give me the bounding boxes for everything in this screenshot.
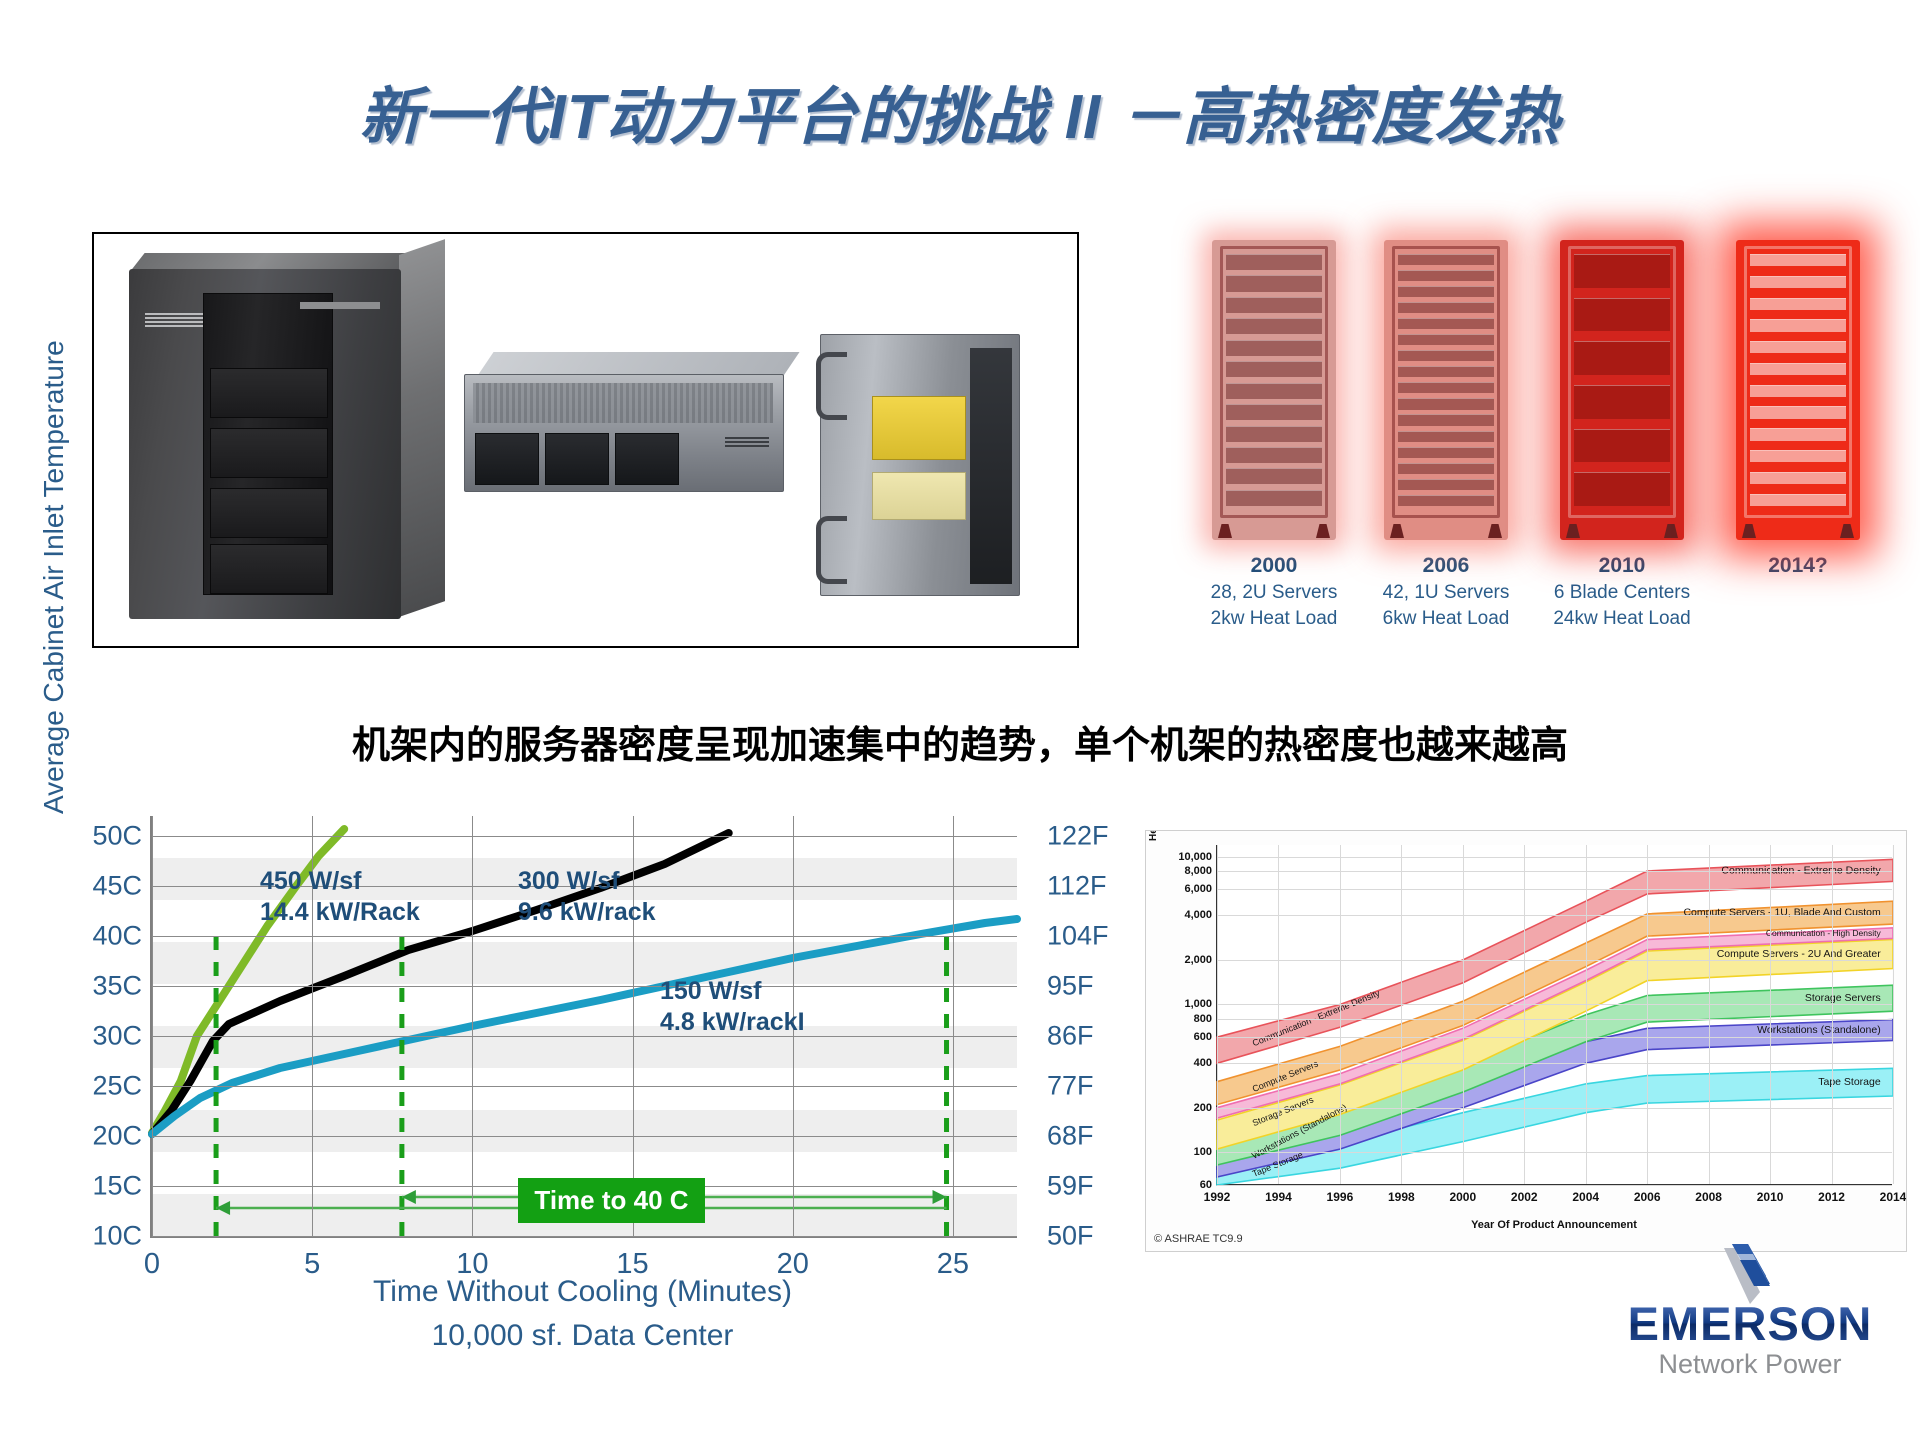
rack-foot bbox=[1218, 524, 1232, 538]
rack-2u-face bbox=[464, 374, 784, 492]
ashrae-band-label: Workstations (Standalone) bbox=[1757, 1024, 1881, 1036]
temp-gridline-h bbox=[152, 936, 1017, 937]
temp-chart-y-axis-title: Average Cabinet Air Inlet Temperature bbox=[38, 384, 70, 814]
ashrae-band-label: Storage Servers bbox=[1805, 992, 1881, 1004]
rack-2u-vent bbox=[473, 383, 773, 423]
ashrae-x-tick: 2010 bbox=[1757, 1190, 1784, 1204]
temp-chart-x-axis-line2: 10,000 sf. Data Center bbox=[150, 1314, 1015, 1358]
rack-slot bbox=[1226, 275, 1322, 291]
server-photo-panel bbox=[92, 232, 1079, 648]
ashrae-plot-area: Communication - Extreme DensityCompute S… bbox=[1216, 845, 1892, 1185]
ibm-logo-mark bbox=[145, 313, 203, 327]
temp-series-annotation-line2: 14.4 kW/Rack bbox=[260, 897, 420, 928]
rack-slot bbox=[1398, 286, 1494, 297]
rack-slot bbox=[1398, 414, 1494, 425]
temp-y-tick-celsius: 15C bbox=[92, 1171, 142, 1202]
ashrae-gridline-h bbox=[1217, 915, 1892, 916]
time-to-40c-badge: Time to 40 C bbox=[518, 1178, 704, 1223]
temp-y-tick-celsius: 40C bbox=[92, 921, 142, 952]
rack-slot bbox=[1750, 406, 1846, 418]
rack-slot bbox=[1226, 383, 1322, 399]
ashrae-heat-load-chart: Heat Load Per Product Footprint (watts /… bbox=[1145, 830, 1907, 1252]
rack-slot bbox=[1226, 468, 1322, 484]
ashrae-gridline-v bbox=[1709, 845, 1710, 1184]
ashrae-band-label: Compute Servers - 1U, Blade And Custom bbox=[1683, 907, 1881, 919]
ashrae-band-label: Compute Servers - 2U And Greater bbox=[1717, 948, 1881, 960]
ashrae-gridline-h bbox=[1217, 871, 1892, 872]
ashrae-gridline-v bbox=[1278, 845, 1279, 1184]
rack-slot bbox=[1574, 385, 1670, 419]
ashrae-y-tick: 100 bbox=[1194, 1146, 1212, 1158]
ashrae-x-tick: 1996 bbox=[1327, 1190, 1354, 1204]
ashrae-gridline-v bbox=[1340, 845, 1341, 1184]
ashrae-y-tick: 2,000 bbox=[1184, 954, 1212, 966]
rack-year-label: 2000 bbox=[1200, 554, 1348, 578]
tower-drawer bbox=[210, 544, 328, 594]
ashrae-gridline-h bbox=[1217, 1152, 1892, 1153]
rack-2u-server-image bbox=[464, 352, 782, 500]
rack-column-2006: 2006 42, 1U Servers 6kw Heat Load bbox=[1372, 240, 1520, 630]
temp-series-annotation-line1: 150 W/sf bbox=[660, 976, 805, 1007]
ashrae-credit-label: © ASHRAE TC9.9 bbox=[1154, 1233, 1243, 1245]
temp-series-annotation: 450 W/sf14.4 kW/Rack bbox=[260, 866, 420, 929]
rack-slot bbox=[1398, 318, 1494, 329]
rack-desc-line1: 28, 2U Servers bbox=[1200, 581, 1348, 604]
temp-series-curve bbox=[152, 919, 1017, 1134]
rack-year-label: 2010 bbox=[1548, 554, 1696, 578]
rack-foot bbox=[1566, 524, 1580, 538]
ashrae-y-tick: 6,000 bbox=[1184, 883, 1212, 895]
rack-slot bbox=[1226, 426, 1322, 442]
rack-image-2014 bbox=[1736, 240, 1860, 540]
ashrae-x-tick: 2000 bbox=[1449, 1190, 1476, 1204]
temp-series-annotation-line1: 300 W/sf bbox=[518, 866, 656, 897]
temp-gridline-v bbox=[152, 816, 153, 1236]
ashrae-x-tick: 1994 bbox=[1265, 1190, 1292, 1204]
rack-slot bbox=[1398, 302, 1494, 313]
rack-slot-stack bbox=[1226, 254, 1322, 506]
blade-handle-icon bbox=[816, 352, 847, 420]
rack-image-2006 bbox=[1384, 240, 1508, 540]
rack-slot bbox=[1226, 318, 1322, 334]
ashrae-gridline-h bbox=[1217, 1004, 1892, 1005]
rack-slot bbox=[1398, 350, 1494, 361]
temp-y-tick-fahrenheit: 104F bbox=[1047, 921, 1109, 952]
ashrae-gridline-v bbox=[1770, 845, 1771, 1184]
rack-slot bbox=[1398, 254, 1494, 265]
blade-label-pale bbox=[872, 472, 966, 520]
rack-slot bbox=[1574, 341, 1670, 375]
slide-subtitle: 机架内的服务器密度呈现加速集中的趋势，单个机架的热密度也越来越高 bbox=[0, 714, 1920, 769]
ashrae-gridline-h bbox=[1217, 1019, 1892, 1020]
temp-series-annotation-line2: 9.6 kW/rack bbox=[518, 897, 656, 928]
page-title: 新一代IT动力平台的挑战 II －高热密度发热 bbox=[0, 66, 1920, 156]
rack-image-2000 bbox=[1212, 240, 1336, 540]
rack-slot bbox=[1398, 270, 1494, 281]
rack-2u-drive-bay bbox=[475, 433, 539, 485]
temp-series-annotation-line2: 4.8 kW/rackI bbox=[660, 1007, 805, 1038]
temp-series-annotation-line1: 450 W/sf bbox=[260, 866, 420, 897]
temp-y-tick-celsius: 45C bbox=[92, 871, 142, 902]
rack-foot bbox=[1488, 524, 1502, 538]
temp-y-tick-fahrenheit: 112F bbox=[1047, 871, 1107, 902]
rack-desc-line2: 2kw Heat Load bbox=[1200, 607, 1348, 630]
ashrae-x-tick: 2008 bbox=[1695, 1190, 1722, 1204]
tower-led-strip bbox=[300, 302, 380, 309]
rack-foot bbox=[1316, 524, 1330, 538]
rack-slot bbox=[1574, 472, 1670, 506]
ashrae-y-tick: 800 bbox=[1194, 1013, 1212, 1025]
ashrae-gridline-h bbox=[1217, 1037, 1892, 1038]
rack-slot-stack bbox=[1574, 254, 1670, 506]
ashrae-gridline-v bbox=[1463, 845, 1464, 1184]
temp-y-tick-fahrenheit: 50F bbox=[1047, 1221, 1094, 1252]
rack-slot bbox=[1226, 404, 1322, 420]
rack-slot bbox=[1226, 254, 1322, 270]
ashrae-y-tick: 600 bbox=[1194, 1031, 1212, 1043]
rack-slot bbox=[1398, 382, 1494, 393]
rack-desc-line1: 42, 1U Servers bbox=[1372, 581, 1520, 604]
ashrae-x-tick: 2014 bbox=[1880, 1190, 1907, 1204]
ashrae-gridline-h bbox=[1217, 960, 1892, 961]
rack-2u-brand-mark bbox=[725, 437, 769, 447]
ashrae-band-label: Tape Storage bbox=[1818, 1076, 1881, 1088]
tower-drawer bbox=[210, 428, 328, 478]
blade-backplane bbox=[970, 348, 1012, 584]
temp-gridline-h bbox=[152, 1036, 1017, 1037]
ashrae-gridline-v bbox=[1524, 845, 1525, 1184]
ashrae-gridline-v bbox=[1401, 845, 1402, 1184]
temp-series-annotation: 300 W/sf9.6 kW/rack bbox=[518, 866, 656, 929]
rack-slot bbox=[1750, 276, 1846, 288]
ashrae-y-tick: 8,000 bbox=[1184, 865, 1212, 877]
ashrae-gridline-h bbox=[1217, 1185, 1892, 1186]
ashrae-band-label: Communication - High Density bbox=[1766, 928, 1882, 938]
rack-slot bbox=[1226, 490, 1322, 506]
rack-slot bbox=[1398, 398, 1494, 409]
rack-slot bbox=[1750, 341, 1846, 353]
rack-year-label: 2014? bbox=[1724, 554, 1872, 578]
rack-image-2010 bbox=[1560, 240, 1684, 540]
temp-gridline-h bbox=[152, 986, 1017, 987]
emerson-wordmark: EMERSON bbox=[1600, 1300, 1900, 1347]
ashrae-gridline-v bbox=[1893, 845, 1894, 1184]
emerson-chevron-icon bbox=[1704, 1242, 1796, 1304]
temp-y-tick-celsius: 20C bbox=[92, 1121, 142, 1152]
rack-slot bbox=[1398, 447, 1494, 458]
rack-slot bbox=[1398, 479, 1494, 490]
temp-gridline-h bbox=[152, 1086, 1017, 1087]
rack-slot-stack bbox=[1398, 254, 1494, 506]
ashrae-gridline-h bbox=[1217, 1108, 1892, 1109]
ashrae-x-tick: 1998 bbox=[1388, 1190, 1415, 1204]
rack-slot bbox=[1226, 447, 1322, 463]
tower-side-face bbox=[399, 239, 445, 617]
ashrae-x-axis-title: Year Of Product Announcement bbox=[1216, 1219, 1892, 1231]
rack-slot bbox=[1398, 366, 1494, 377]
rack-foot bbox=[1840, 524, 1854, 538]
blade-server-image bbox=[820, 334, 1020, 596]
tower-bezel bbox=[203, 293, 333, 595]
rack-foot bbox=[1742, 524, 1756, 538]
temp-series-annotation: 150 W/sf4.8 kW/rackI bbox=[660, 976, 805, 1039]
temperature-rise-chart: Average Cabinet Air Inlet Temperature 10… bbox=[10, 800, 1110, 1430]
rack-slot bbox=[1226, 297, 1322, 313]
temp-y-tick-fahrenheit: 68F bbox=[1047, 1121, 1094, 1152]
ashrae-gridline-v bbox=[1832, 845, 1833, 1184]
tower-server-image bbox=[129, 269, 401, 619]
temp-y-tick-fahrenheit: 59F bbox=[1047, 1171, 1094, 1202]
ashrae-gridline-h bbox=[1217, 1063, 1892, 1064]
ashrae-y-tick: 200 bbox=[1194, 1102, 1212, 1114]
rack-2u-drive-bay bbox=[615, 433, 679, 485]
ashrae-gridline-v bbox=[1586, 845, 1587, 1184]
rack-slot bbox=[1226, 340, 1322, 356]
ashrae-x-tick: 2012 bbox=[1818, 1190, 1845, 1204]
rack-desc-line1: 6 Blade Centers bbox=[1548, 581, 1696, 604]
rack-slot bbox=[1398, 495, 1494, 506]
ashrae-gridline-h bbox=[1217, 889, 1892, 890]
temp-y-tick-fahrenheit: 122F bbox=[1047, 821, 1109, 852]
rack-slot-stack bbox=[1750, 254, 1846, 506]
ashrae-x-tick: 1992 bbox=[1204, 1190, 1231, 1204]
ashrae-x-tick: 2002 bbox=[1511, 1190, 1538, 1204]
rack-slot bbox=[1750, 319, 1846, 331]
rack-slot bbox=[1750, 428, 1846, 440]
tower-drawer bbox=[210, 368, 328, 418]
temp-gridline-h bbox=[152, 836, 1017, 837]
ashrae-gridline-v bbox=[1217, 845, 1218, 1184]
ashrae-y-tick: 400 bbox=[1194, 1057, 1212, 1069]
blade-handle-icon bbox=[816, 516, 847, 584]
rack-foot bbox=[1390, 524, 1404, 538]
ashrae-y-tick: 4,000 bbox=[1184, 909, 1212, 921]
temp-chart-x-axis-line1: Time Without Cooling (Minutes) bbox=[150, 1270, 1015, 1314]
rack-slot bbox=[1750, 363, 1846, 375]
emerson-logo: EMERSON Network Power bbox=[1600, 1300, 1900, 1380]
blade-label-yellow bbox=[872, 396, 966, 460]
temp-y-tick-celsius: 30C bbox=[92, 1021, 142, 1052]
rack-slot bbox=[1750, 254, 1846, 266]
rack-year-label: 2006 bbox=[1372, 554, 1520, 578]
temp-gridline-h bbox=[152, 1236, 1017, 1237]
emerson-tagline: Network Power bbox=[1600, 1349, 1900, 1380]
rack-slot bbox=[1398, 334, 1494, 345]
ashrae-gridline-v bbox=[1647, 845, 1648, 1184]
temp-gridline-h bbox=[152, 1136, 1017, 1137]
ashrae-bands: Communication - Extreme DensityCompute S… bbox=[1217, 845, 1893, 1185]
rack-slot bbox=[1750, 385, 1846, 397]
rack-desc-line2: 6kw Heat Load bbox=[1372, 607, 1520, 630]
rack-foot bbox=[1664, 524, 1678, 538]
rack-slot bbox=[1750, 494, 1846, 506]
rack-evolution-group: 2000 28, 2U Servers 2kw Heat Load 2006 4… bbox=[1200, 240, 1890, 670]
rack-slot bbox=[1226, 361, 1322, 377]
rack-2u-drive-bay bbox=[545, 433, 609, 485]
rack-column-2010: 2010 6 Blade Centers 24kw Heat Load bbox=[1548, 240, 1696, 630]
rack-desc-line2: 24kw Heat Load bbox=[1548, 607, 1696, 630]
temp-gridline-v bbox=[953, 816, 954, 1236]
ashrae-gridline-h bbox=[1217, 857, 1892, 858]
rack-slot bbox=[1750, 450, 1846, 462]
temp-y-tick-celsius: 25C bbox=[92, 1071, 142, 1102]
temp-y-tick-fahrenheit: 77F bbox=[1047, 1071, 1094, 1102]
ashrae-x-tick: 2006 bbox=[1634, 1190, 1661, 1204]
temp-y-tick-celsius: 10C bbox=[92, 1221, 142, 1252]
tower-drawer bbox=[210, 488, 328, 538]
temp-chart-x-axis-title: Time Without Cooling (Minutes) 10,000 sf… bbox=[150, 1270, 1015, 1357]
rack-slot bbox=[1574, 254, 1670, 288]
rack-slot bbox=[1574, 429, 1670, 463]
rack-slot bbox=[1398, 463, 1494, 474]
ashrae-y-tick: 1,000 bbox=[1184, 998, 1212, 1010]
ashrae-x-tick: 2004 bbox=[1572, 1190, 1599, 1204]
rack-slot bbox=[1750, 298, 1846, 310]
rack-column-2000: 2000 28, 2U Servers 2kw Heat Load bbox=[1200, 240, 1348, 630]
temp-y-tick-celsius: 35C bbox=[92, 971, 142, 1002]
temp-y-tick-celsius: 50C bbox=[92, 821, 142, 852]
rack-slot bbox=[1574, 298, 1670, 332]
ashrae-y-tick: 10,000 bbox=[1178, 851, 1212, 863]
rack-slot bbox=[1398, 431, 1494, 442]
temp-y-tick-fahrenheit: 95F bbox=[1047, 971, 1094, 1002]
rack-slot bbox=[1750, 472, 1846, 484]
rack-column-2014: 2014? bbox=[1724, 240, 1872, 581]
ashrae-y-axis-title: Heat Load Per Product Footprint (watts /… bbox=[1148, 830, 1159, 841]
temp-y-tick-fahrenheit: 86F bbox=[1047, 1021, 1094, 1052]
temp-gridline-v bbox=[472, 816, 473, 1236]
